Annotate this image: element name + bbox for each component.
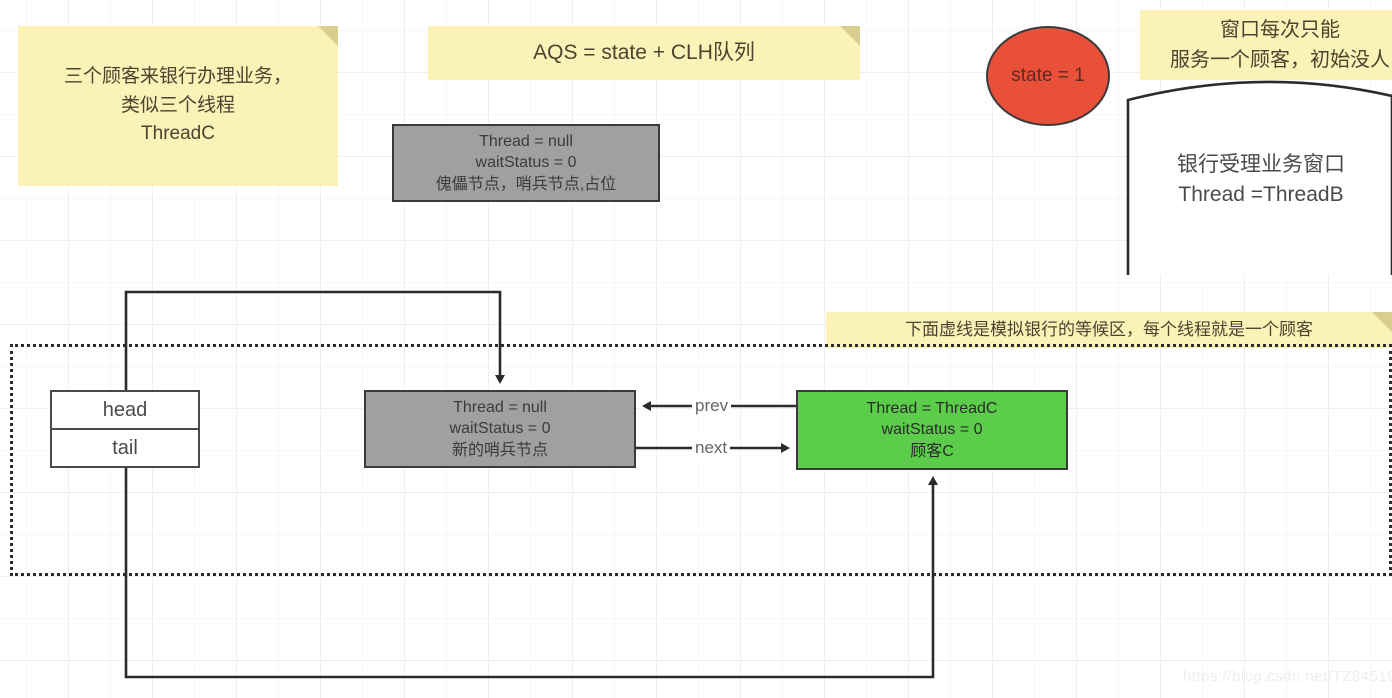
note-customers-line3: ThreadC [141,120,215,149]
note-waiting-zone: 下面虚线是模拟银行的等候区，每个线程就是一个顾客 [826,312,1392,348]
note-waiting-zone-line1: 下面虚线是模拟银行的等候区，每个线程就是一个顾客 [905,317,1313,343]
waiting-zone-boundary [10,344,1392,576]
node-thread-c-line1: Thread = ThreadC [867,398,998,420]
node-thread-c: Thread = ThreadC waitStatus = 0 顾客C [796,390,1068,470]
note-aqs-line1: AQS = state + CLH队列 [533,37,755,69]
edge-label-prev: prev [692,396,731,416]
state-ellipse-label: state = 1 [1011,65,1084,87]
node-sentinel-line1: Thread = null [453,397,547,419]
diagram-canvas: 三个顾客来银行办理业务， 类似三个线程 ThreadC AQS = state … [0,0,1392,698]
bank-window-label: 银行受理业务窗口 Thread =ThreadB [1132,150,1390,211]
bank-window-line2: Thread =ThreadB [1132,180,1390,210]
note-window-rule-line2: 服务一个顾客，初始没人 [1170,45,1390,75]
node-sentinel: Thread = null waitStatus = 0 新的哨兵节点 [364,390,636,468]
note-window-rule-line1: 窗口每次只能 [1220,15,1340,45]
note-customers-line2: 类似三个线程 [121,92,235,121]
note-window-rule: 窗口每次只能 服务一个顾客，初始没人 [1140,10,1392,80]
node-thread-c-line2: waitStatus = 0 [882,419,983,441]
note-fold-icon [1372,312,1392,332]
watermark-text: https://blog.csdn.net/TZ845195485 [1183,668,1392,685]
edge-label-next: next [692,438,730,458]
note-fold-icon [318,26,338,46]
tail-cell: tail [52,430,198,466]
node-sentinel-line3: 新的哨兵节点 [452,440,548,462]
node-dummy-top-line1: Thread = null [479,131,573,153]
head-tail-box: head tail [50,390,200,468]
head-pointer-wire [126,292,500,394]
node-sentinel-line2: waitStatus = 0 [450,418,551,440]
note-aqs-formula: AQS = state + CLH队列 [428,26,860,80]
node-dummy-top-line3: 傀儡节点，哨兵节点,占位 [436,174,616,196]
note-customers-line1: 三个顾客来银行办理业务， [64,63,292,92]
note-customers: 三个顾客来银行办理业务， 类似三个线程 ThreadC [18,26,338,186]
node-dummy-top-line2: waitStatus = 0 [476,152,577,174]
bank-window-line1: 银行受理业务窗口 [1132,150,1390,180]
head-cell: head [52,392,198,430]
tail-pointer-wire [126,468,933,677]
node-dummy-top: Thread = null waitStatus = 0 傀儡节点，哨兵节点,占… [392,124,660,202]
note-fold-icon [840,26,860,46]
state-ellipse: state = 1 [986,26,1110,126]
node-thread-c-line3: 顾客C [910,441,954,463]
